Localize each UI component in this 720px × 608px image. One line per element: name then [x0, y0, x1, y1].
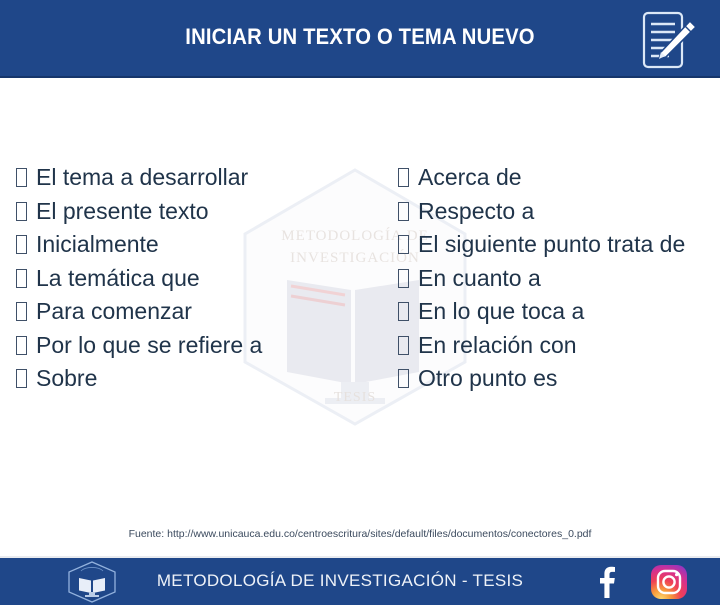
facebook-icon[interactable]: [593, 565, 619, 598]
list-item-label: Para comenzar: [36, 298, 192, 324]
bullet-box-icon: [16, 302, 27, 321]
list-item-label: Sobre: [36, 365, 97, 391]
source-note: Fuente: http://www.unicauca.edu.co/centr…: [0, 528, 720, 540]
footer-bar: METODOLOGÍA DE INVESTIGACIÓN - TESIS: [0, 556, 720, 605]
list-item: Para comenzar: [16, 295, 376, 329]
list-item: Acerca de: [398, 161, 708, 195]
list-item: El siguiente punto trata de: [398, 228, 708, 262]
list-item-label: Por lo que se refiere a: [36, 332, 262, 358]
list-item-label: En relación con: [418, 332, 577, 358]
hexagon-book-logo-icon: [66, 561, 118, 603]
list-item-label: La temática que: [36, 265, 200, 291]
list-item-label: El tema a desarrollar: [36, 164, 248, 190]
bullet-box-icon: [16, 168, 27, 187]
list-item: Respecto a: [398, 195, 708, 229]
connector-list-right: Acerca de Respecto a El siguiente punto …: [398, 161, 708, 396]
bullet-box-icon: [16, 202, 27, 221]
bullet-box-icon: [16, 369, 27, 388]
bullet-box-icon: [398, 202, 409, 221]
list-item-label: Inicialmente: [36, 231, 159, 257]
list-item-label: En cuanto a: [418, 265, 541, 291]
document-pencil-icon: [636, 9, 698, 71]
list-item-label: El siguiente punto trata de: [418, 231, 685, 257]
bullet-box-icon: [398, 336, 409, 355]
list-item: Otro punto es: [398, 362, 708, 396]
bullet-box-icon: [398, 369, 409, 388]
footer-title: METODOLOGÍA DE INVESTIGACIÓN - TESIS: [140, 571, 540, 591]
list-item: El tema a desarrollar: [16, 161, 376, 195]
list-item: Inicialmente: [16, 228, 376, 262]
bullet-box-icon: [16, 269, 27, 288]
bullet-box-icon: [16, 235, 27, 254]
bullet-box-icon: [398, 168, 409, 187]
list-item-label: En lo que toca a: [418, 298, 584, 324]
list-item-label: Acerca de: [418, 164, 522, 190]
connector-list-left: El tema a desarrollar El presente texto …: [16, 161, 376, 396]
list-item: La temática que: [16, 262, 376, 296]
list-item: Sobre: [16, 362, 376, 396]
bullet-box-icon: [16, 336, 27, 355]
bullet-box-icon: [398, 235, 409, 254]
instagram-icon[interactable]: [650, 564, 688, 600]
list-item: En relación con: [398, 329, 708, 363]
header-bar: INICIAR UN TEXTO O TEMA NUEVO: [0, 0, 720, 78]
page-title: INICIAR UN TEXTO O TEMA NUEVO: [29, 24, 691, 50]
list-item-label: Otro punto es: [418, 365, 557, 391]
bullet-box-icon: [398, 302, 409, 321]
content-area: El tema a desarrollar El presente texto …: [0, 78, 720, 556]
list-item: En cuanto a: [398, 262, 708, 296]
list-item: En lo que toca a: [398, 295, 708, 329]
bullet-box-icon: [398, 269, 409, 288]
list-item: El presente texto: [16, 195, 376, 229]
list-item-label: Respecto a: [418, 198, 534, 224]
list-item-label: El presente texto: [36, 198, 209, 224]
list-item: Por lo que se refiere a: [16, 329, 376, 363]
